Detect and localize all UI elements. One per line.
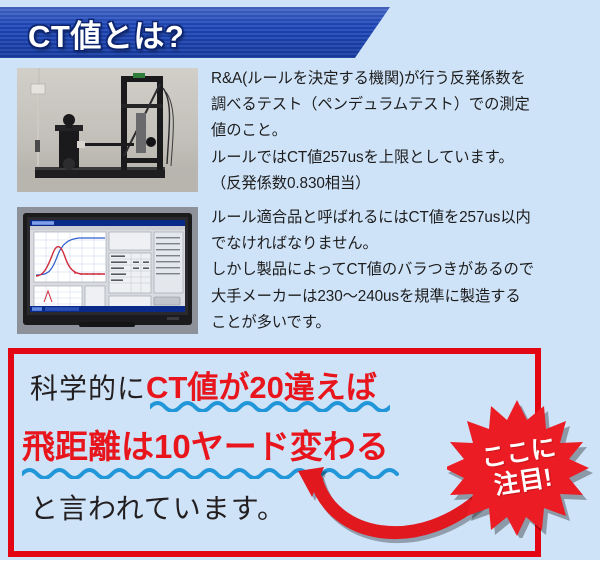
attention-badge: ここに 注目! bbox=[447, 398, 595, 538]
paragraph-ct-conformance: ルール適合品と呼ばれるにはCT値を257us以内 でなければなりません。 しかし… bbox=[211, 205, 591, 336]
starburst-icon bbox=[447, 398, 595, 538]
paragraph-ct-definition: R&A(ルールを決定する機関)が行う反発係数を 調べるテスト（ペンデュラムテスト… bbox=[211, 66, 591, 197]
wavy-underline-1 bbox=[150, 398, 390, 412]
photo-measurement-screen bbox=[17, 207, 198, 334]
photo-pendulum-test-machine bbox=[17, 68, 198, 192]
infographic-page: CT値とは? bbox=[0, 0, 600, 570]
page-title: CT値とは? bbox=[28, 11, 184, 56]
bottom-strip bbox=[0, 560, 600, 570]
pendulum-test-machine-image bbox=[17, 68, 198, 192]
measurement-software-screen-image bbox=[17, 207, 198, 334]
